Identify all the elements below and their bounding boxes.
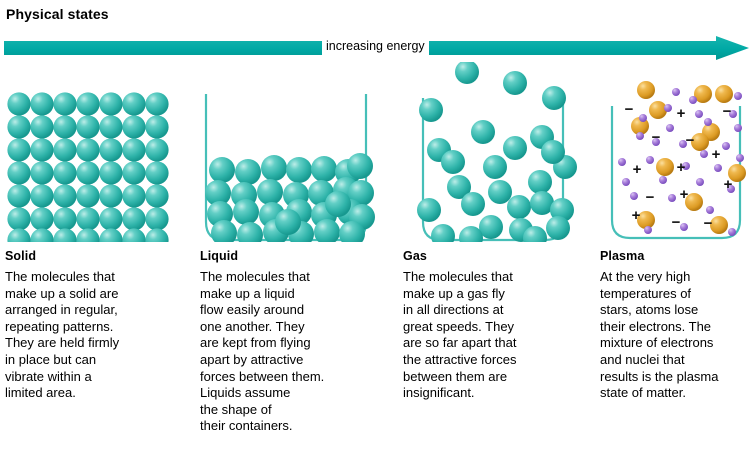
svg-text:−: −: [704, 215, 713, 232]
svg-text:−: −: [723, 103, 732, 120]
state-label-gas: Gas: [403, 249, 427, 263]
svg-text:+: +: [677, 159, 686, 176]
svg-text:−: −: [686, 132, 695, 149]
state-description-solid: The molecules that make up a solid are a…: [5, 269, 185, 402]
svg-text:+: +: [724, 176, 733, 193]
liquid-molecules: [205, 153, 375, 242]
svg-text:+: +: [633, 161, 642, 178]
solid-lattice: [7, 92, 168, 242]
liquid-figure: [200, 62, 395, 242]
gas-molecules: [417, 62, 577, 242]
svg-text:+: +: [677, 105, 686, 122]
gas-figure: [403, 62, 593, 242]
state-column-liquid: Liquid The molecules that make up a liqu…: [200, 62, 395, 242]
state-column-gas: Gas The molecules that make up a gas fly…: [403, 62, 593, 242]
svg-text:−: −: [672, 214, 681, 231]
state-column-plasma: − + − − − + + + + − + + − − Plasma At th…: [600, 62, 752, 242]
energy-arrow-label: increasing energy: [322, 38, 429, 55]
state-label-solid: Solid: [5, 249, 36, 263]
state-description-gas: The molecules that make up a gas fly in …: [403, 269, 588, 402]
svg-text:−: −: [625, 101, 634, 118]
page-title: Physical states: [6, 6, 109, 22]
svg-text:−: −: [652, 129, 661, 146]
state-column-solid: Solid The molecules that make up a solid…: [5, 62, 195, 242]
svg-text:+: +: [712, 146, 721, 163]
svg-text:−: −: [646, 189, 655, 206]
state-label-liquid: Liquid: [200, 249, 238, 263]
state-description-liquid: The molecules that make up a liquid flow…: [200, 269, 390, 435]
state-description-plasma: At the very high temperatures of stars, …: [600, 269, 750, 402]
solid-figure: [5, 62, 195, 242]
plasma-figure: − + − − − + + + + − + + − −: [600, 62, 752, 242]
svg-text:+: +: [680, 186, 689, 203]
svg-text:+: +: [632, 207, 641, 224]
state-label-plasma: Plasma: [600, 249, 644, 263]
